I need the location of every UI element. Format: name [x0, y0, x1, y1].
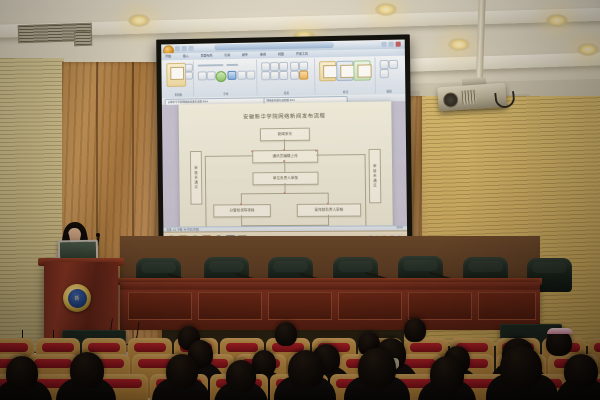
downlight: [448, 38, 470, 51]
decrease-indent-icon[interactable]: [290, 62, 299, 71]
ribbon-group-font: 字体: [195, 59, 258, 96]
replace-icon[interactable]: [389, 60, 398, 69]
audience-head: [564, 354, 598, 388]
undo-icon[interactable]: [182, 46, 187, 51]
downlight: [375, 3, 397, 16]
tab-view[interactable]: 视图: [278, 52, 284, 57]
multilevel-list-icon[interactable]: [279, 62, 288, 71]
italic-icon[interactable]: [207, 71, 216, 80]
audience-head: [500, 346, 542, 388]
bullets-icon[interactable]: [261, 62, 270, 71]
headband: [547, 328, 573, 334]
projector-vent: [462, 90, 477, 105]
connector-handle: [327, 203, 329, 205]
group-label-editing: 编辑: [377, 89, 401, 93]
zoom-level[interactable]: 100%: [396, 226, 403, 229]
projection-screen[interactable]: 开始 插入 页面布局 引用 邮件 审阅 视图 开发工具 剪贴板: [161, 40, 407, 247]
downlight: [128, 14, 150, 27]
flow-side-label-left: 审核未通过: [190, 151, 202, 205]
increase-indent-icon[interactable]: [299, 62, 308, 71]
select-icon[interactable]: [380, 69, 389, 78]
slide-title: 安徽新华学院网络新闻发布流程: [179, 110, 392, 121]
style-heading2-button[interactable]: [353, 60, 370, 80]
audience-head: [70, 352, 104, 388]
ribbon-group-clipboard: 剪贴板: [163, 61, 194, 97]
connector-handle: [251, 150, 253, 152]
cut-icon[interactable]: [185, 64, 193, 72]
align-center-icon[interactable]: [270, 71, 279, 80]
save-icon[interactable]: [175, 46, 180, 51]
paste-button[interactable]: [166, 63, 186, 87]
ribbon-group-styles: 样式: [316, 57, 376, 94]
tab-developer[interactable]: 开发工具: [296, 52, 308, 57]
redo-icon[interactable]: [189, 46, 194, 51]
connector-handle: [283, 149, 285, 151]
font-color-icon[interactable]: [227, 71, 236, 80]
audience-head: [404, 318, 426, 342]
bold-icon[interactable]: [198, 71, 207, 80]
audience-head: [275, 322, 297, 346]
audience-head: [6, 356, 38, 390]
audience-head: [288, 350, 324, 388]
connector-handle: [284, 192, 286, 194]
align-right-icon[interactable]: [279, 71, 288, 80]
projection-screen-frame: 开始 插入 页面布局 引用 邮件 审阅 视图 开发工具 剪贴板: [156, 34, 412, 252]
document-page: 安徽新华学院网络新闻发布流程 审核未通过 审核未通过 新闻采写 通讯员编辑上传 …: [179, 101, 393, 232]
find-icon[interactable]: [380, 60, 389, 69]
connector-handle: [240, 203, 242, 205]
flow-edge-4-merge: [241, 215, 242, 225]
audience-head: [430, 356, 464, 392]
close-icon[interactable]: [396, 42, 401, 47]
style-normal-button[interactable]: [319, 61, 336, 81]
audience-area: [0, 296, 600, 400]
align-left-icon[interactable]: [261, 71, 270, 80]
tab-review[interactable]: 审阅: [260, 52, 266, 57]
flow-side-label-right: 审核未通过: [369, 149, 382, 204]
window-title-text: [214, 42, 334, 50]
connector-handle: [283, 160, 285, 162]
copy-icon[interactable]: [185, 72, 193, 80]
style-heading1-button[interactable]: [336, 61, 353, 81]
minimize-icon[interactable]: [381, 42, 386, 47]
connector-handle: [315, 150, 317, 152]
group-label-clipboard: 剪贴板: [164, 92, 194, 96]
audience-head: [226, 360, 256, 392]
flow-feedback-right-top: [316, 154, 364, 156]
text-highlight-icon[interactable]: [216, 71, 227, 82]
downlight: [546, 14, 568, 27]
downlight: [577, 43, 599, 56]
ribbon-group-paragraph: 段落: [258, 58, 315, 95]
numbering-icon[interactable]: [270, 62, 279, 71]
flow-feedback-left-top: [205, 155, 253, 157]
ribbon-group-editing: 编辑: [376, 57, 401, 94]
flow-node-2: 通讯员编辑上传: [252, 150, 318, 164]
projector-lens-icon: [443, 92, 459, 108]
flow-edge-2-3: [284, 161, 285, 172]
flow-edge-5-merge: [328, 215, 329, 225]
line-spacing-icon[interactable]: [290, 71, 299, 80]
document-canvas[interactable]: 安徽新华学院网络新闻发布流程 审核未通过 审核未通过 新闻采写 通讯员编辑上传 …: [162, 101, 407, 233]
underline-icon[interactable]: [237, 71, 246, 80]
font-size-box[interactable]: [226, 64, 238, 66]
auditorium-photo: 开始 插入 页面布局 引用 邮件 审阅 视图 开发工具 剪贴板: [0, 0, 600, 400]
strikethrough-icon[interactable]: [246, 71, 255, 80]
tab-home[interactable]: 开始: [165, 54, 171, 59]
font-name-box[interactable]: [198, 64, 224, 66]
audience-head: [166, 354, 198, 388]
word-ribbon: 剪贴板 字体: [161, 56, 405, 99]
tab-mailings[interactable]: 邮件: [242, 53, 248, 58]
tab-layout[interactable]: 页面布局: [201, 53, 213, 58]
audience-head: [358, 348, 396, 388]
air-vent-small: [74, 31, 93, 47]
shading-icon[interactable]: [299, 71, 308, 80]
tab-reference[interactable]: 引用: [224, 53, 230, 58]
maximize-icon[interactable]: [388, 42, 393, 47]
tab-insert[interactable]: 插入: [183, 54, 189, 59]
flow-node-3: 单位负责人审核: [252, 172, 318, 186]
